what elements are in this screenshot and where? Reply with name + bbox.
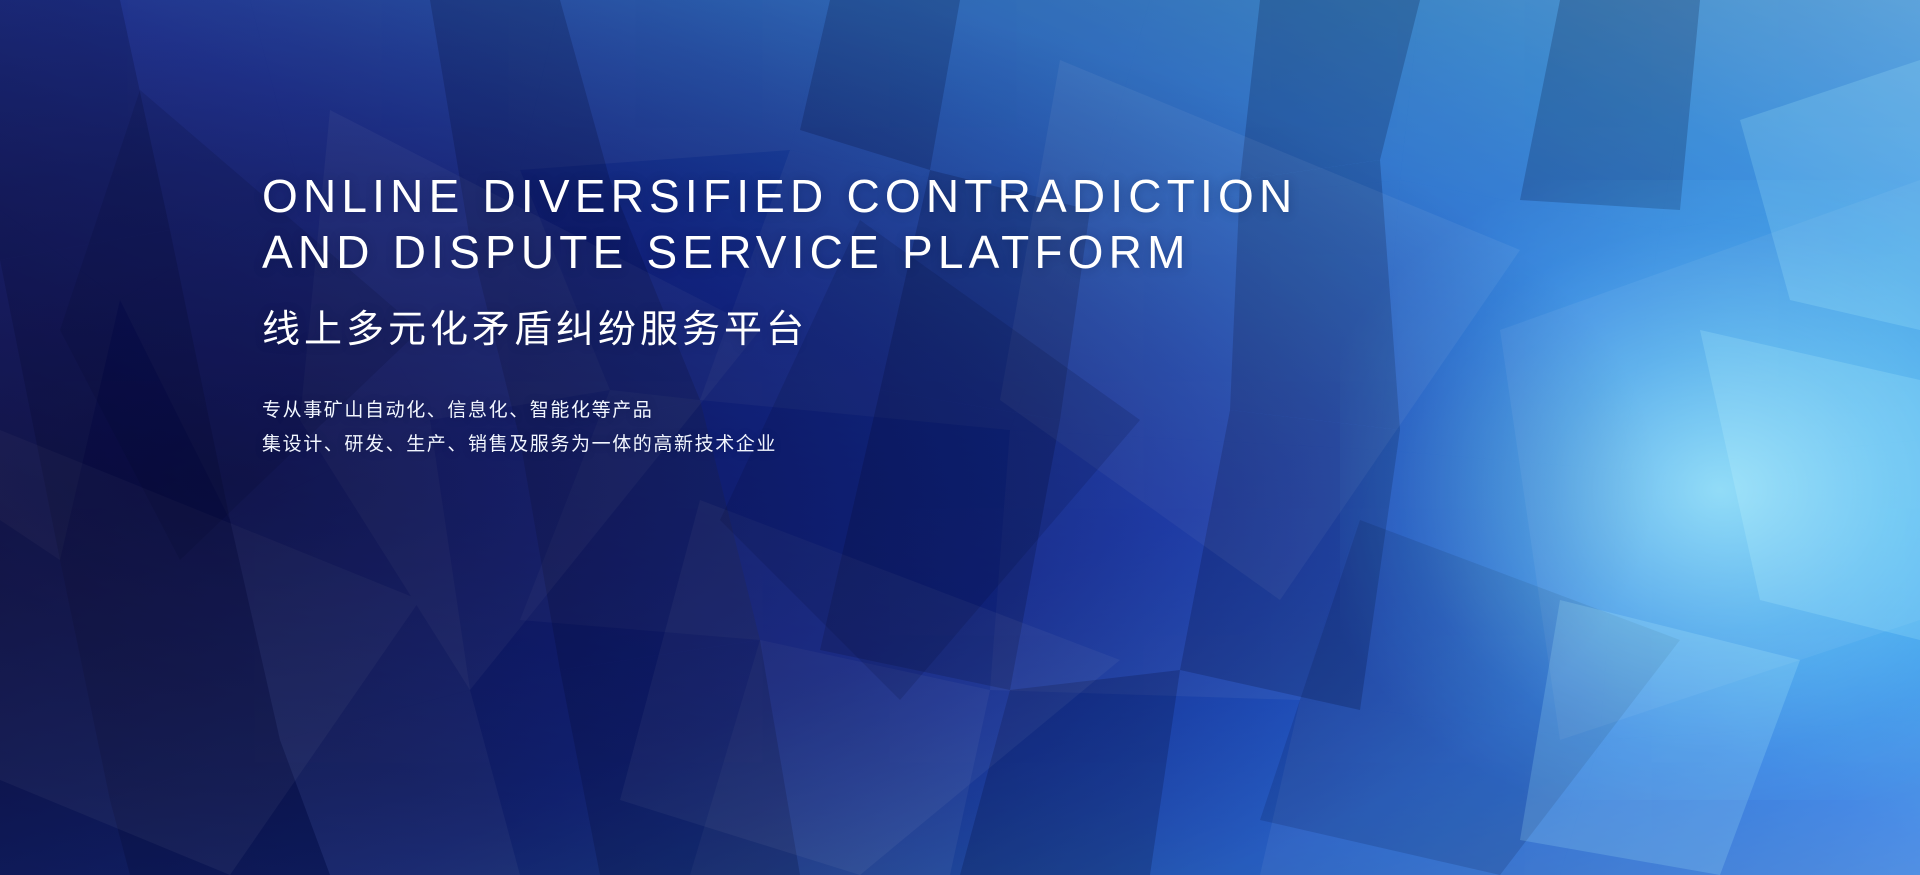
description-line-1: 专从事矿山自动化、信息化、智能化等产品 — [262, 394, 1462, 428]
hero-banner: ONLINE DIVERSIFIED CONTRADICTION AND DIS… — [0, 0, 1920, 875]
banner-content: ONLINE DIVERSIFIED CONTRADICTION AND DIS… — [262, 168, 1462, 462]
banner-headline-en: ONLINE DIVERSIFIED CONTRADICTION AND DIS… — [262, 168, 1462, 280]
banner-description: 专从事矿山自动化、信息化、智能化等产品 集设计、研发、生产、销售及服务为一体的高… — [262, 394, 1462, 462]
description-line-2: 集设计、研发、生产、销售及服务为一体的高新技术企业 — [262, 428, 1462, 462]
banner-subtitle-cn: 线上多元化矛盾纠纷服务平台 — [262, 306, 1462, 354]
